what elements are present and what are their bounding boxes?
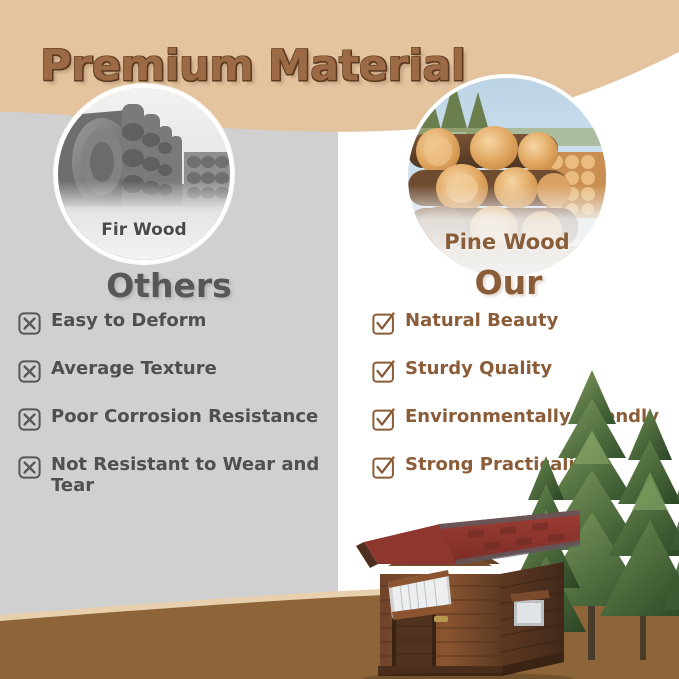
x-box-icon bbox=[18, 312, 41, 335]
x-box-icon bbox=[18, 456, 41, 479]
list-item-label: Easy to Deform bbox=[51, 310, 206, 331]
pine-wood-label: Pine Wood bbox=[408, 230, 606, 254]
our-column-heading: Our bbox=[338, 263, 679, 302]
list-item: Easy to Deform bbox=[18, 310, 338, 335]
fir-wood-badge: Fir Wood bbox=[54, 84, 234, 264]
others-column-heading: Others bbox=[0, 266, 338, 305]
list-item-label: Average Texture bbox=[51, 358, 217, 379]
list-item-label: Natural Beauty bbox=[405, 310, 558, 331]
check-box-icon bbox=[372, 456, 395, 479]
page-title: Premium Material bbox=[40, 41, 465, 91]
list-item-label: Poor Corrosion Resistance bbox=[51, 406, 318, 427]
premium-material-poster: Premium Material bbox=[0, 0, 679, 679]
others-feature-list: Easy to Deform Average Texture Poor Corr… bbox=[18, 310, 338, 519]
check-box-icon bbox=[372, 408, 395, 431]
x-box-icon bbox=[18, 408, 41, 431]
x-box-icon bbox=[18, 360, 41, 383]
check-box-icon bbox=[372, 360, 395, 383]
list-item: Natural Beauty bbox=[372, 310, 672, 335]
pine-wood-badge: Pine Wood bbox=[404, 74, 610, 280]
check-box-icon bbox=[372, 312, 395, 335]
list-item-label: Not Resistant to Wear and Tear bbox=[51, 454, 338, 496]
wooden-dog-house-photo bbox=[348, 506, 580, 679]
list-item: Poor Corrosion Resistance bbox=[18, 406, 338, 431]
list-item: Not Resistant to Wear and Tear bbox=[18, 454, 338, 496]
fir-wood-label: Fir Wood bbox=[58, 220, 230, 240]
list-item: Average Texture bbox=[18, 358, 338, 383]
